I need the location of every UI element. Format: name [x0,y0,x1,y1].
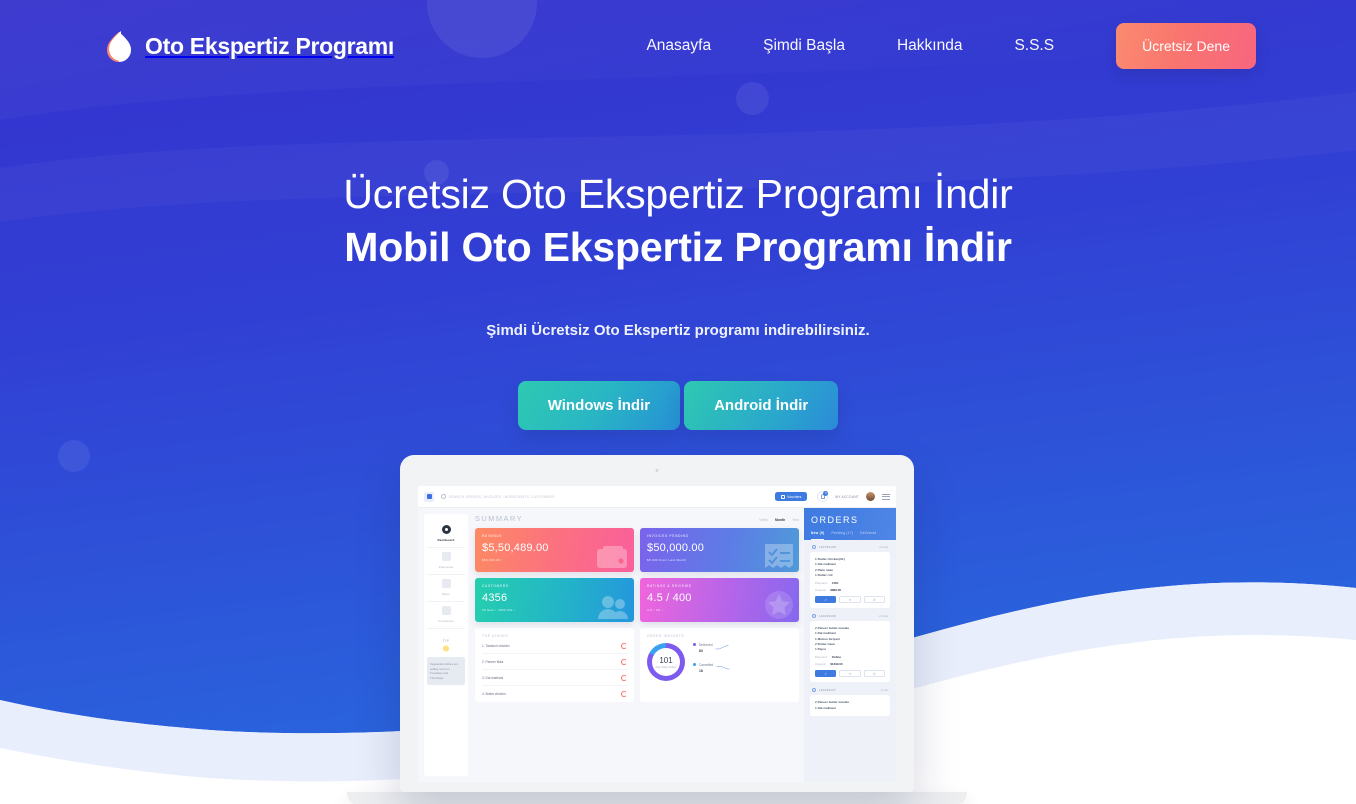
star-icon [764,590,794,619]
dish-name: 3. Dal makhani [482,676,503,680]
hero-section: Ücretsiz Oto Ekspertiz Programı İndir Mo… [0,170,1356,430]
donut-center: 101 Avg. Daily Orders [647,643,685,681]
hero-subtitle: Şimdi Ücretsiz Oto Ekspertiz programı in… [0,322,1356,339]
summary-filters: Week Month Year [759,518,799,522]
summary-header: SUMMARY Week Month Year [475,514,799,523]
order-amount: Amount: $888.00 [815,588,885,592]
nav-link-sss[interactable]: S.S.S [988,27,1080,65]
brand-name: Oto Ekspertiz Programı [145,33,394,60]
laptop-base [347,792,967,804]
orders-list[interactable]: 110766156 4 mins 1 Butter chicken(XL) 1 … [804,540,896,782]
order-time: 4 mins [879,545,888,549]
orders-header: ORDERS New (5) Pending (17) Delivered [804,508,896,540]
filter-year[interactable]: Year [792,518,799,522]
app-logo-icon [424,492,434,502]
order-card: 2 Paneer butter masala 1 Dal makhani [810,695,890,716]
orders-title: ORDERS [811,515,889,525]
donut-chart-area: 101 Avg. Daily Orders Delive [647,642,792,682]
order-select-radio-icon[interactable] [812,614,816,618]
progress-ring-icon [621,659,627,665]
tip-title: TIP [443,639,449,643]
orders-tab-delivered[interactable]: Delivered [860,531,876,540]
sidebar-item-label: Menu [442,592,450,596]
dish-name: 4. Butter chicken [482,692,506,696]
summary-title: SUMMARY [475,514,523,523]
hero-title-secondary: Mobil Oto Ekspertiz Programı İndir [0,223,1356,271]
orders-tab-new[interactable]: New (5) [811,531,824,540]
customers-icon [442,606,451,615]
order-amount: Amount: $1399.00 [815,662,885,666]
amount-value: $1399.00 [830,662,843,666]
search-icon [441,494,446,499]
call-phone-icon[interactable]: ✆ [864,670,885,677]
notification-badge: 6 [823,491,828,496]
site-header: Oto Ekspertiz Programı Anasayfa Şimdi Ba… [0,0,1356,92]
dashboard-topbar: SEARCH ORDERS, INVOICES, INGREDIENTS, CU… [418,486,896,508]
order-payment: Payment: COD [815,581,885,585]
order-item: 110766156 4 mins 1 Butter chicken(XL) 1 … [810,545,890,608]
order-id: 110296166 [819,614,836,618]
wallet-icon [595,545,629,569]
filter-month[interactable]: Month [775,518,785,522]
menu-icon [442,579,451,588]
download-android-button[interactable]: Android İndir [684,381,838,430]
laptop-camera-icon [656,469,659,472]
sidebar-item-menu[interactable]: Menu [427,575,465,602]
amount-label: Amount: [815,588,826,592]
payment-label: Payment: [815,581,828,585]
dashboard-icon [442,525,451,534]
search-input-placeholder: SEARCH ORDERS, INVOICES, INGREDIENTS, CU… [449,495,555,499]
order-id: 110766156 [819,545,836,549]
dashboard-body: Dashboard Payments Menu Customers [418,508,896,782]
reject-cross-icon[interactable]: ✕ [839,670,860,677]
sidebar-item-customers[interactable]: Customers [427,602,465,629]
vouchers-label: Vouchers [787,495,801,499]
orders-tabs: New (5) Pending (17) Delivered [811,531,889,540]
order-line: 1 Butter roti [815,573,885,578]
stat-card-ratings: RATINGS & REVIEWS 4.5 / 400 4.9 ↑ 20 ↑ [640,578,799,622]
order-line: 1 Dal makhani [815,706,885,711]
order-actions: ✓ ✕ ✆ [815,596,885,603]
voucher-icon [781,495,785,499]
dish-row: 3. Dal makhani [482,670,627,686]
accept-check-icon[interactable]: ✓ [815,596,836,603]
stat-card-invoices-pending: INVOICES PENDING $50,000.00 $5,000 From … [640,528,799,572]
dish-row: 4. Butter chicken [482,686,627,701]
hamburger-menu-icon[interactable] [882,494,890,500]
legend-value: 18 [699,669,713,673]
laptop-mockup: SEARCH ORDERS, INVOICES, INGREDIENTS, CU… [400,455,914,804]
lower-panels: TOP DISHES 1. Tandoori chicken 2. Paneer… [475,628,799,702]
dish-row: 2. Paneer tikka [482,654,627,670]
sidebar-item-payments[interactable]: Payments [427,548,465,575]
payment-value: Online [832,655,841,659]
stat-label: RATINGS & REVIEWS [647,584,792,588]
laptop-lid: SEARCH ORDERS, INVOICES, INGREDIENTS, CU… [400,455,914,792]
sidebar-item-label: Customers [438,619,454,623]
avatar[interactable] [866,492,875,501]
order-card: 2 Paneer butter masala 1 Dal makhani 1 M… [810,621,890,682]
orders-panel: ORDERS New (5) Pending (17) Delivered [804,508,896,782]
reject-cross-icon[interactable]: ✕ [839,596,860,603]
amount-label: Amount: [815,662,826,666]
top-dishes-panel: TOP DISHES 1. Tandoori chicken 2. Paneer… [475,628,634,702]
download-windows-button[interactable]: Windows İndir [518,381,680,430]
panel-title: ORDER INSIGHTS [647,634,792,638]
droplet-logo-icon [104,30,134,62]
stat-card-grid: REVENUE $5,50,489.00 $50,000.00 ↑ [475,528,799,622]
order-item: 110296166 2 mins 2 Paneer butter masala … [810,614,890,682]
sparkline-icon [715,645,729,650]
order-head: 110296166 2 mins [810,614,890,621]
filter-week[interactable]: Week [759,518,768,522]
stat-label: INVOICES PENDING [647,534,792,538]
stat-label: CUSTOMERS [482,584,627,588]
order-actions: ✓ ✕ ✆ [815,670,885,677]
account-label[interactable]: MY ACCOUNT [835,495,859,499]
stat-label: REVENUE [482,534,627,538]
order-insights-panel: ORDER INSIGHTS 101 Avg. Daily Orders [640,628,799,702]
order-card: 1 Butter chicken(XL) 1 Dal makhani 2 Pla… [810,552,890,608]
legend-item-cancelled: Cancelled 18 [693,662,730,673]
dashboard-main: SUMMARY Week Month Year REVENUE $5,50,48… [468,508,804,782]
nav-link-hakkinda[interactable]: Hakkında [871,27,988,65]
legend-label: Delivered [699,643,712,647]
dish-row: 1. Tandoori chicken [482,638,627,654]
legend-dot-icon [693,643,696,646]
order-payment: Payment: Online [815,655,885,659]
people-icon [597,595,629,619]
amount-value: $888.00 [830,588,841,592]
call-phone-icon[interactable]: ✆ [864,596,885,603]
brand-logo[interactable]: Oto Ekspertiz Programı [104,30,394,62]
lightbulb-icon [442,645,450,655]
stat-card-customers: CUSTOMERS 4356 56 New ↑ 4300 Old ↑ [475,578,634,622]
donut-chart: 101 Avg. Daily Orders [647,643,685,681]
order-head: 110296167 1 min [810,688,890,695]
legend-dot-icon [693,663,696,666]
progress-ring-icon [621,691,627,697]
donut-legend: Delivered 83 Cance [693,642,730,682]
legend-label: Cancelled [699,663,713,667]
sidebar-item-label: Payments [439,565,454,569]
dashboard-mockup: SEARCH ORDERS, INVOICES, INGREDIENTS, CU… [418,486,896,782]
dashboard-sidebar: Dashboard Payments Menu Customers [424,514,468,776]
order-select-radio-icon[interactable] [812,545,816,549]
payment-label: Payment: [815,655,828,659]
vouchers-button[interactable]: Vouchers [775,492,808,501]
dish-name: 2. Paneer tikka [482,660,503,664]
legend-value: 83 [699,649,712,653]
order-time: 1 min [881,688,888,692]
stat-card-revenue: REVENUE $5,50,489.00 $50,000.00 ↑ [475,528,634,572]
order-select-radio-icon[interactable] [812,688,816,692]
invoice-icon [764,543,794,569]
order-id: 110296167 [819,688,836,692]
payment-value: COD [832,581,839,585]
dish-name: 1. Tandoori chicken [482,644,509,648]
hero-title-primary: Ücretsiz Oto Ekspertiz Programı İndir [0,170,1356,218]
progress-ring-icon [621,675,627,681]
order-item: 110296167 1 min 2 Paneer butter masala 1… [810,688,890,716]
tip-box: Vegetarian dishes are selling more on Tu… [427,657,465,685]
donut-caption: Avg. Daily Orders [655,666,676,669]
main-navigation: Anasayfa Şimdi Başla Hakkında S.S.S Ücre… [620,23,1256,69]
order-time: 2 mins [879,614,888,618]
order-line: 1 Pepsi [815,647,885,652]
order-head: 110766156 4 mins [810,545,890,552]
tip-text: Vegetarian dishes are selling more on Tu… [430,662,462,680]
sidebar-item-dashboard[interactable]: Dashboard [427,521,465,548]
orders-tab-pending[interactable]: Pending (17) [831,531,853,540]
sparkline-icon [716,665,730,670]
nav-link-simdi-basla[interactable]: Şimdi Başla [737,27,871,65]
sidebar-item-label: Dashboard [437,538,454,542]
legend-item-delivered: Delivered 83 [693,642,730,653]
payments-icon [442,552,451,561]
accept-check-icon[interactable]: ✓ [815,670,836,677]
nav-link-anasayfa[interactable]: Anasayfa [620,27,737,65]
download-button-group: Windows İndir Android İndir [0,381,1356,430]
laptop-screen: SEARCH ORDERS, INVOICES, INGREDIENTS, CU… [418,486,896,782]
dashboard-search[interactable]: SEARCH ORDERS, INVOICES, INGREDIENTS, CU… [441,494,768,499]
progress-ring-icon [621,643,627,649]
free-trial-button[interactable]: Ücretsiz Dene [1116,23,1256,69]
notifications-button[interactable]: 6 [817,491,828,502]
donut-value: 101 [659,656,672,665]
